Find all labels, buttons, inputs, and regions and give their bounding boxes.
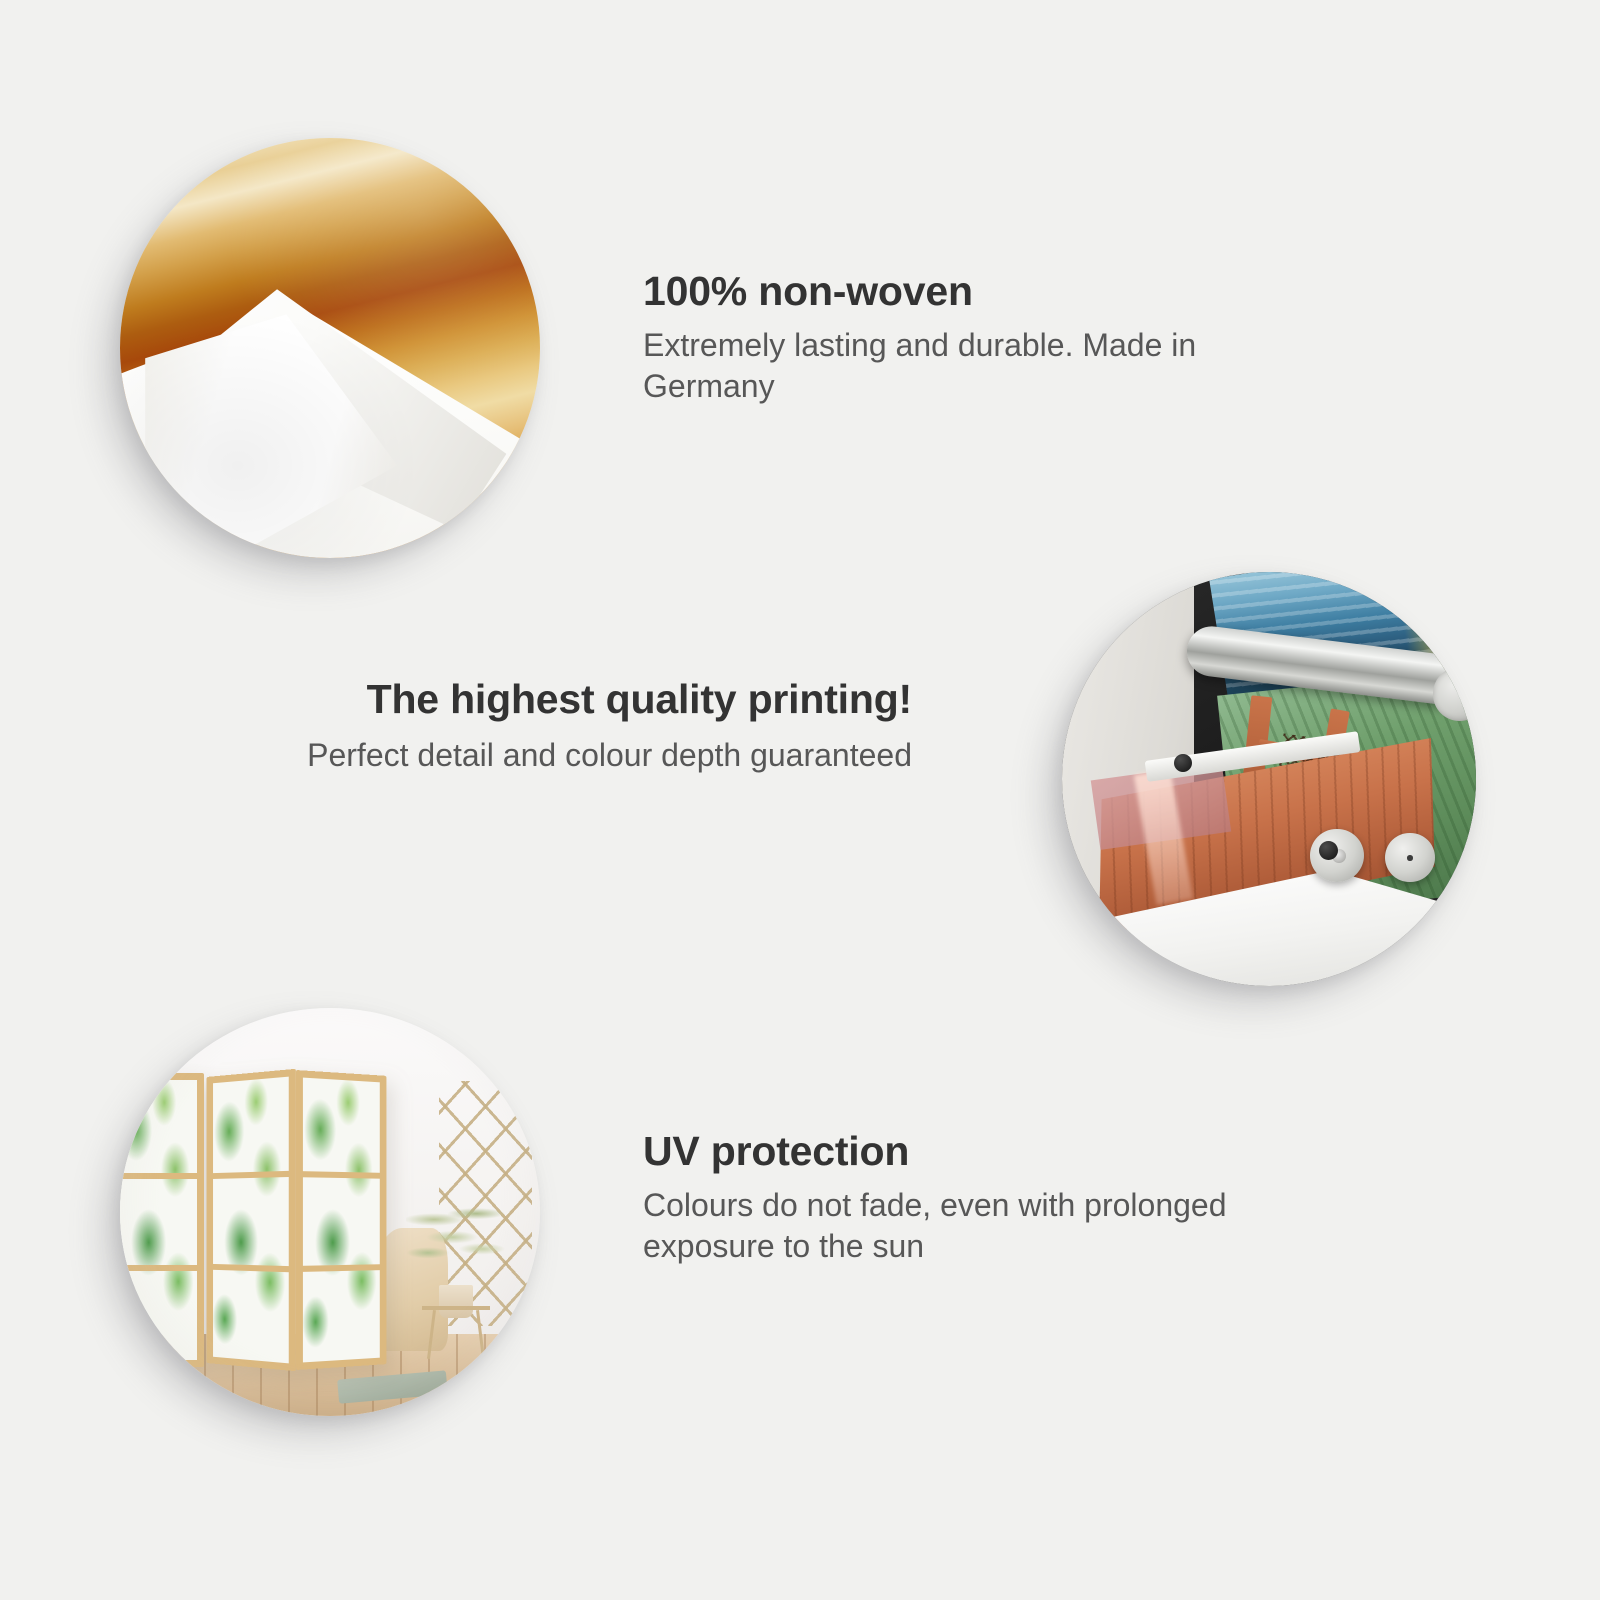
room-vignette-overlay (120, 1008, 540, 1416)
wallpaper-shading-overlay (120, 138, 540, 558)
tropical-room-image (120, 1008, 540, 1416)
feature-body-printing: Perfect detail and colour depth guarante… (232, 735, 912, 777)
printing-machine-image (1062, 572, 1476, 986)
feature-text-printing: The highest quality printing! Perfect de… (232, 676, 912, 776)
feature-text-uv: UV protection Colours do not fade, even … (643, 1128, 1283, 1268)
machine-wheel-right (1385, 833, 1435, 883)
wallpaper-peel-photo (120, 138, 540, 558)
infographic-canvas: 100% non-woven Extremely lasting and dur… (0, 0, 1600, 1600)
feature-heading-non-woven: 100% non-woven (643, 268, 1323, 315)
feature-body-non-woven: Extremely lasting and durable. Made in G… (643, 325, 1323, 408)
wallpaper-peel-image (120, 138, 540, 558)
tropical-room-divider-photo (120, 1008, 540, 1416)
printing-machine-photo (1062, 572, 1476, 986)
feature-text-non-woven: 100% non-woven Extremely lasting and dur… (643, 268, 1323, 408)
feature-body-uv: Colours do not fade, even with prolonged… (643, 1185, 1283, 1268)
machine-knob-lower (1319, 841, 1338, 860)
feature-heading-printing: The highest quality printing! (232, 676, 912, 723)
feature-heading-uv: UV protection (643, 1128, 1283, 1175)
